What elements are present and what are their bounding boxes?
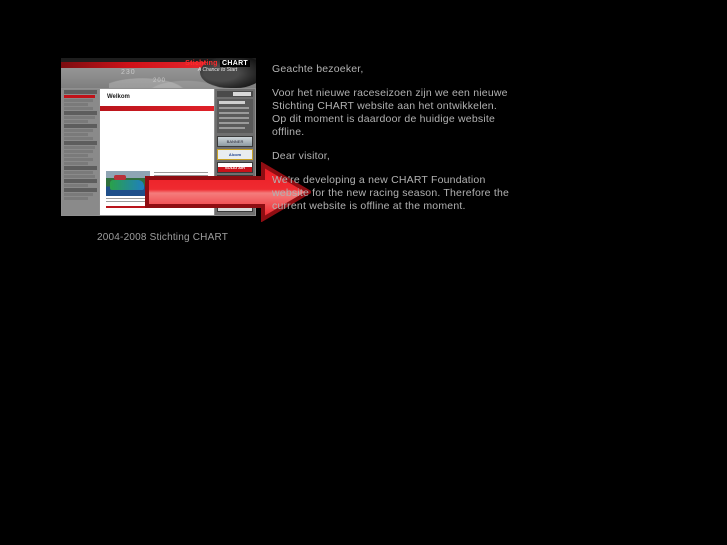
nav-group [64, 188, 97, 200]
nav-item [64, 103, 88, 106]
article-text-line [154, 187, 208, 188]
nav-group [64, 179, 97, 187]
nav-item [64, 197, 88, 200]
nav-item [64, 129, 93, 132]
site-search-input [233, 92, 251, 96]
site-side-column: BANNER Alcom SOLID AIR AB WATERSPORT SPO… [215, 89, 255, 215]
latest-news-header [219, 101, 245, 104]
sponsor-banner: SOLID AIR [217, 162, 253, 173]
news-item [219, 122, 249, 124]
website-screenshot-thumbnail[interactable]: 230 200 Stichting CHART A Chance to Star… [61, 58, 256, 216]
nav-item [64, 137, 93, 140]
site-content-heading: Welkom [107, 94, 130, 100]
race-car-photo [106, 171, 150, 196]
nav-item [64, 99, 93, 102]
news-item [219, 117, 249, 119]
nav-item [64, 133, 88, 136]
nav-item [64, 116, 95, 119]
copyright-footer: 2004-2008 Stichting CHART [97, 232, 228, 243]
sponsor-banner: Alcom [217, 149, 253, 160]
article-caption [106, 206, 192, 208]
article-text-line [154, 193, 208, 194]
nav-group-header [64, 111, 97, 115]
article-text-line [154, 175, 208, 176]
race-car-wing [114, 175, 126, 180]
nav-group-header [64, 188, 97, 192]
nav-group [64, 90, 97, 110]
nav-group-header [64, 90, 97, 94]
nav-item [64, 184, 88, 187]
offline-message: Geachte bezoeker, Voor het nieuwe racese… [272, 63, 512, 213]
sponsor-banner: AB WATERSPORT [217, 175, 253, 186]
race-car-body [110, 180, 144, 190]
dutch-body: Voor het nieuwe raceseizoen zijn we een … [272, 87, 512, 139]
logo-word-stichting: Stichting [185, 60, 218, 67]
speedometer-value-small: 200 [153, 78, 166, 84]
english-salutation: Dear visitor, [272, 150, 512, 163]
english-body: We're developing a new CHART Foundation … [272, 174, 512, 213]
nav-item [64, 150, 93, 153]
screenshot-canvas: 230 200 Stichting CHART A Chance to Star… [61, 58, 256, 216]
nav-item [64, 171, 93, 174]
speedometer-value-large: 230 [121, 69, 136, 76]
site-search-box [217, 91, 253, 97]
nav-item [64, 146, 95, 149]
nav-item [64, 154, 88, 157]
nav-group [64, 111, 97, 123]
logo-word-chart: CHART [220, 60, 250, 67]
nav-item [64, 120, 88, 123]
nav-item [64, 193, 93, 196]
news-item [219, 112, 249, 114]
sponsor-banner: SPONSOR [217, 188, 253, 199]
nav-group-header [64, 179, 97, 183]
article-text-line [154, 184, 208, 185]
site-header-banner: 230 200 Stichting CHART A Chance to Star… [61, 58, 256, 88]
article-text-line [154, 190, 202, 191]
nav-item [64, 162, 88, 165]
sponsor-banner: RENAULT [217, 201, 253, 212]
site-latest-news-box [217, 99, 253, 133]
site-main-content: Welkom [100, 89, 214, 215]
site-logo: Stichting CHART A Chance to Start [185, 60, 250, 73]
page-root: 230 200 Stichting CHART A Chance to Star… [0, 0, 727, 545]
nav-group [64, 124, 97, 140]
nav-group-header [64, 166, 97, 170]
article-text-line [106, 198, 208, 199]
sponsor-banner: BANNER [217, 136, 253, 147]
nav-item-active [64, 95, 95, 98]
logo-tagline: A Chance to Start [185, 68, 250, 73]
site-sidebar-nav [62, 89, 99, 215]
nav-item [64, 158, 93, 161]
site-content-red-rule [100, 106, 214, 111]
nav-item [64, 175, 95, 178]
dutch-salutation: Geachte bezoeker, [272, 63, 512, 76]
nav-group-header [64, 141, 97, 145]
news-item [219, 107, 249, 109]
article-text-line [154, 181, 208, 182]
article-text-line [154, 178, 208, 179]
nav-group [64, 141, 97, 165]
nav-group-header [64, 124, 97, 128]
site-body: Welkom [61, 88, 256, 216]
nav-group [64, 166, 97, 178]
nav-item [64, 107, 93, 110]
article-text-line [154, 172, 208, 173]
article-text-line [106, 201, 208, 202]
news-item [219, 127, 245, 129]
